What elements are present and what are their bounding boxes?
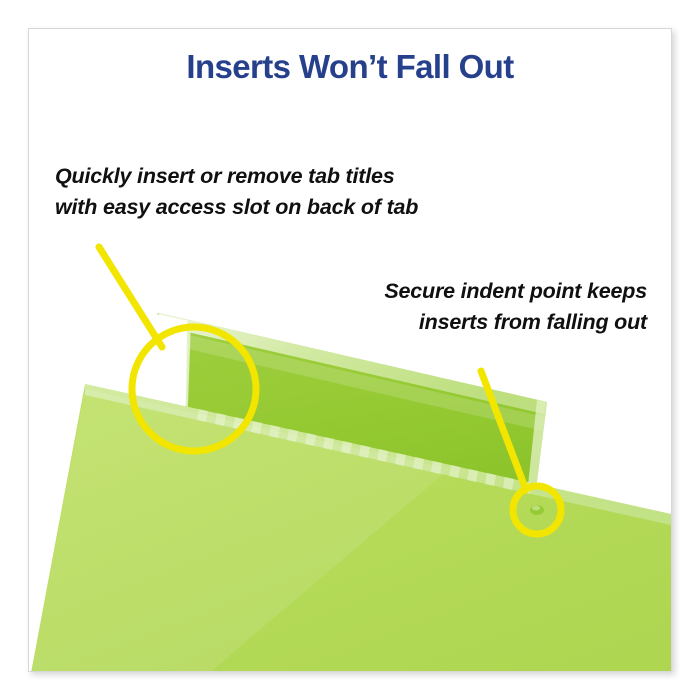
- product-feature-figure: Inserts Won’t Fall Out Quickly insert or…: [0, 0, 700, 700]
- page-title: Inserts Won’t Fall Out: [29, 49, 671, 85]
- indent-point-shine: [532, 506, 540, 511]
- photo-frame: Inserts Won’t Fall Out Quickly insert or…: [28, 28, 672, 672]
- indent-point-group: [530, 505, 544, 515]
- callout-right-label: Secure indent point keeps inserts from f…: [335, 276, 647, 337]
- callout-left-label: Quickly insert or remove tab titles with…: [55, 161, 418, 222]
- divider-product-illustration: [29, 29, 671, 671]
- photo-stage: Inserts Won’t Fall Out Quickly insert or…: [29, 29, 671, 671]
